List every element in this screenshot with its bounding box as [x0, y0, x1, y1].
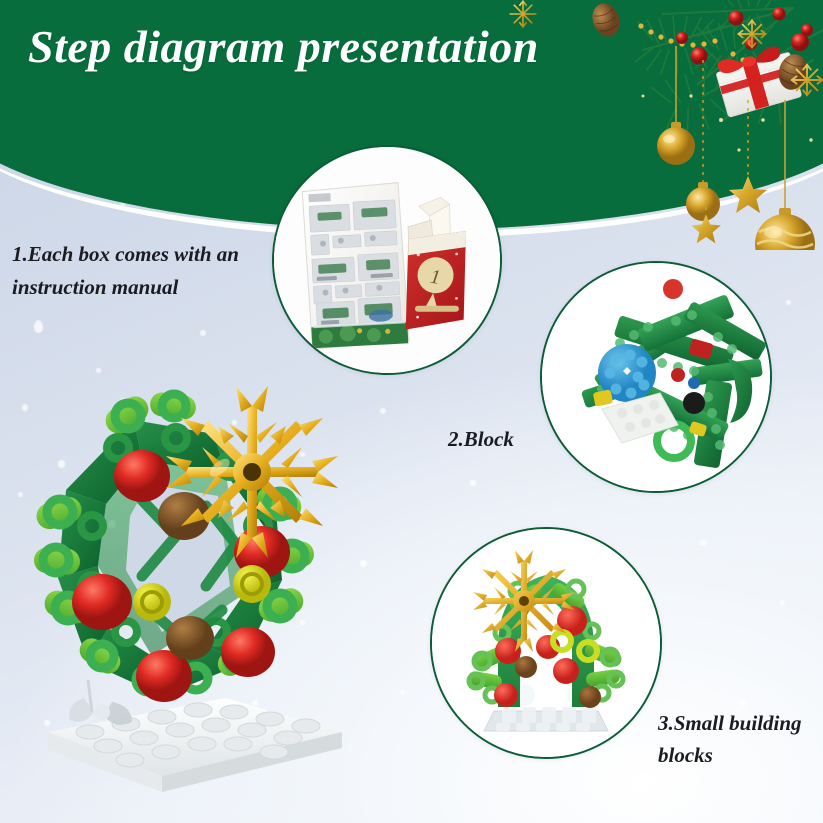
poster-canvas: Step diagram presentation: [0, 0, 823, 823]
step-1-circle[interactable]: 1: [272, 145, 502, 375]
red-round-brick: [663, 279, 683, 299]
step-3-caption: 3.Small building blocks: [658, 708, 818, 771]
step-3-circle[interactable]: [430, 527, 662, 759]
brown-ornament: [579, 686, 601, 708]
brown-ornament: [515, 656, 537, 678]
step-2-caption: 2.Block: [448, 424, 514, 456]
silver-bow: [69, 680, 132, 725]
christmas-wreath-model: [30, 380, 360, 800]
red-berry: [495, 638, 521, 664]
black-round-brick: [683, 392, 705, 414]
instruction-manual-sheet: [302, 182, 409, 349]
red-berry: [494, 683, 518, 707]
christmas-decoration-cluster: [493, 0, 823, 250]
red-berry: [553, 658, 579, 684]
page-title: Step diagram presentation: [28, 22, 539, 73]
step-2-circle[interactable]: [540, 261, 772, 493]
gold-star-icon: [729, 176, 767, 213]
step-1-caption: 1.Each box comes with an instruction man…: [12, 238, 262, 303]
